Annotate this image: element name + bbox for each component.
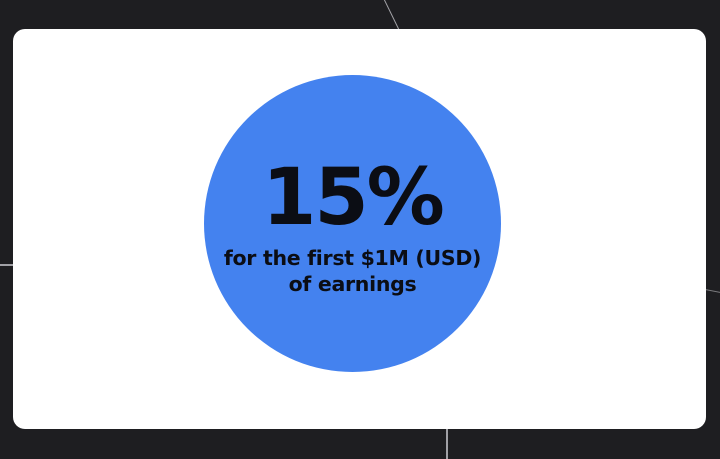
- guide-line-top-diagonal-icon: [383, 0, 401, 32]
- guide-line-left-horizontal-icon: [0, 264, 14, 266]
- stat-caption: for the first $1M (USD) of earnings: [224, 245, 481, 297]
- stat-caption-line-2: of earnings: [224, 271, 481, 297]
- guide-line-bottom-vertical-icon: [446, 428, 448, 459]
- stat-caption-line-1: for the first $1M (USD): [224, 245, 481, 271]
- slide-card: 15% for the first $1M (USD) of earnings: [13, 29, 706, 429]
- stat-value: 15%: [262, 163, 443, 235]
- stat-circle: 15% for the first $1M (USD) of earnings: [204, 75, 501, 372]
- slide-stage: 15% for the first $1M (USD) of earnings: [0, 0, 720, 459]
